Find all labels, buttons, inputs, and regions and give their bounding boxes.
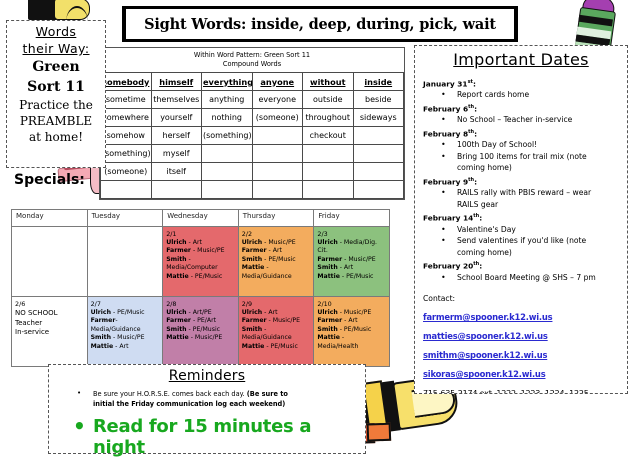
- word-sort-cell: (someone): [252, 109, 303, 127]
- schedule-teacher-subject: - PE/Music: [340, 273, 374, 280]
- schedule-teacher-line: Farmer - Art: [242, 247, 311, 255]
- schedule-teacher-name: Mattie: [242, 343, 265, 350]
- word-sort-row: (someone)itself: [101, 163, 404, 181]
- schedule-teacher-name: Farmer: [166, 317, 191, 324]
- word-sort-cell: yourself: [151, 109, 202, 127]
- schedule-cell: 2/1Ulrich - ArtFarmer - Music/PESmith - …: [163, 227, 239, 297]
- date-bullet-item: Send valentines if you'd like (note: [423, 235, 619, 247]
- schedule-teacher-name: Farmer: [317, 256, 342, 263]
- schedule-cell-date: 2/2: [242, 230, 311, 239]
- schedule-teacher-line: Mattie - PE/Music: [317, 273, 386, 281]
- word-sort-table-container: Within Word Pattern: Green Sort 11 Compo…: [99, 47, 405, 200]
- reminders-title: Reminders: [55, 368, 359, 384]
- schedule-teacher-subject: - PE/Music: [189, 273, 223, 280]
- schedule-cell: 2/3Ulrich - Media/Dig. Cit.Farmer - Musi…: [314, 227, 390, 297]
- schedule-no-school-line: Teacher: [15, 319, 84, 329]
- schedule-teacher-line: Mattie - PE/Music: [166, 273, 235, 281]
- word-sort-row: (something)myself: [101, 145, 404, 163]
- word-sort-caption: Within Word Pattern: Green Sort 11 Compo…: [100, 48, 404, 72]
- date-bullet-item: Bring 100 items for trail mix (note: [423, 151, 619, 163]
- word-sort-cell: [303, 163, 354, 181]
- schedule-teacher-name: Smith: [317, 264, 337, 271]
- schedule-teacher-name: Smith: [242, 256, 262, 263]
- schedule-cell: [87, 227, 163, 297]
- word-sort-cell: somehow: [101, 127, 152, 145]
- schedule-cell: 2/6NO SCHOOLTeacherIn-service: [12, 297, 88, 367]
- wtw-line-6: PREAMBLE: [10, 113, 102, 129]
- schedule-teacher-line: Smith - PE/Music: [242, 256, 311, 264]
- schedule-cell: 2/7Ulrich - PE/MusicFarmer- Media/Guidan…: [87, 297, 163, 367]
- word-sort-table: somebodyhimselfeverythinganyonewithoutin…: [100, 72, 404, 199]
- date-heading: February 9th:: [423, 175, 619, 187]
- schedule-cell-date: 2/3: [317, 230, 386, 239]
- date-bullet-item: RAILS rally with PBIS reward – wear: [423, 187, 619, 199]
- word-sort-header-cell: somebody: [101, 73, 152, 91]
- schedule-teacher-subject: - Art: [342, 317, 357, 324]
- schedule-teacher-subject: - Music/PE: [338, 309, 372, 316]
- word-sort-cell: checkout: [303, 127, 354, 145]
- word-sort-cell: anything: [202, 91, 253, 109]
- schedule-teacher-line: Smith - Media/Computer: [166, 256, 235, 273]
- email-link[interactable]: matties@spooner.k12.wi.us: [423, 331, 619, 341]
- schedule-teacher-name: Ulrich: [166, 309, 186, 316]
- schedule-teacher-name: Mattie: [317, 334, 340, 341]
- schedule-teacher-name: Farmer: [242, 247, 267, 254]
- schedule-no-school-line: NO SCHOOL: [15, 309, 84, 319]
- important-dates-title: Important Dates: [423, 50, 619, 69]
- schedule-teacher-name: Ulrich: [166, 239, 186, 246]
- schedule-teacher-subject: - Art: [262, 309, 277, 316]
- specials-schedule-container: MondayTuesdayWednesdayThursdayFriday2/1U…: [11, 209, 390, 367]
- reminder-item-read: Read for 15 minutes a night: [55, 416, 359, 458]
- schedule-cell-date: 2/10: [317, 300, 386, 309]
- schedule-teacher-line: Farmer - Music/PE: [317, 256, 386, 264]
- schedule-teacher-subject: - Music/PE: [191, 247, 225, 254]
- word-sort-row: somehowherself(something)checkout: [101, 127, 404, 145]
- schedule-teacher-name: Smith: [166, 326, 186, 333]
- word-sort-cell: [353, 145, 404, 163]
- schedule-teacher-name: Mattie: [317, 273, 340, 280]
- word-sort-cell: [202, 145, 253, 163]
- date-heading: February 14th:: [423, 211, 619, 223]
- schedule-teacher-subject: - Music/PE: [267, 317, 301, 324]
- specials-schedule-table: MondayTuesdayWednesdayThursdayFriday2/1U…: [11, 209, 390, 367]
- schedule-teacher-subject: - Art: [113, 343, 128, 350]
- word-sort-cell: [303, 181, 354, 199]
- word-sort-cell: itself: [151, 163, 202, 181]
- schedule-cell: [12, 227, 88, 297]
- wtw-line-1: Words: [10, 23, 102, 40]
- schedule-teacher-subject: - Music/PE: [111, 334, 145, 341]
- schedule-day-header: Wednesday: [163, 210, 239, 227]
- schedule-header-row: MondayTuesdayWednesdayThursdayFriday: [12, 210, 390, 227]
- word-sort-cell: sometime: [101, 91, 152, 109]
- word-sort-row: sometimethemselvesanythingeveryoneoutsid…: [101, 91, 404, 109]
- wtw-line-3: Green: [10, 57, 102, 77]
- schedule-teacher-line: Smith - Media/Guidance: [242, 326, 311, 343]
- schedule-teacher-subject: - PE/Music: [111, 309, 145, 316]
- reminder-item-horse-line2: initial the Friday communication log eac…: [55, 399, 359, 409]
- word-sort-cell: nothing: [202, 109, 253, 127]
- email-link[interactable]: smithm@spooner.k12.wi.us: [423, 350, 619, 360]
- schedule-week-2-row: 2/6NO SCHOOLTeacherIn-service2/7Ulrich -…: [12, 297, 390, 367]
- word-sort-cell: [202, 181, 253, 199]
- word-sort-cell: [252, 145, 303, 163]
- word-sort-cell: sideways: [353, 109, 404, 127]
- schedule-teacher-subject: - PE/Music: [338, 326, 372, 333]
- word-sort-cell: [252, 181, 303, 199]
- word-sort-header-cell: everything: [202, 73, 253, 91]
- reminder-horse-plain: Be sure your H.O.R.S.E. comes back each …: [93, 390, 247, 398]
- schedule-teacher-subject: - Art/PE: [187, 309, 212, 316]
- word-sort-cell: outside: [303, 91, 354, 109]
- schedule-teacher-name: Smith: [242, 326, 262, 333]
- schedule-teacher-name: Farmer: [242, 317, 267, 324]
- schedule-cell-date: 2/7: [91, 300, 160, 309]
- schedule-teacher-line: Mattie - Art: [91, 343, 160, 351]
- schedule-teacher-line: Ulrich - Art/PE: [166, 309, 235, 317]
- schedule-teacher-line: Mattie - Media/Health: [317, 334, 386, 351]
- schedule-teacher-name: Ulrich: [317, 239, 337, 246]
- word-sort-cell: (something): [101, 145, 152, 163]
- schedule-day-header: Friday: [314, 210, 390, 227]
- schedule-cell-date: 2/8: [166, 300, 235, 309]
- word-sort-cell: themselves: [151, 91, 202, 109]
- date-bullet-item: School Board Meeting @ SHS – 7 pm: [423, 272, 619, 284]
- schedule-teacher-line: Ulrich - Media/Dig. Cit.: [317, 239, 386, 256]
- schedule-teacher-line: Mattie - Media/Guidance: [242, 264, 311, 281]
- schedule-teacher-line: Smith - Art: [317, 264, 386, 272]
- schedule-teacher-subject: - PE/Art: [191, 317, 216, 324]
- schedule-teacher-subject: - PE/Music: [187, 326, 221, 333]
- phone-number: 715-635-2174 ext. 1222, 1223, 1224, 1225: [423, 389, 619, 394]
- date-heading: February 6th:: [423, 102, 619, 114]
- date-heading: January 31st:: [423, 77, 619, 89]
- schedule-teacher-subject: - Music/PE: [342, 256, 376, 263]
- schedule-teacher-name: Smith: [91, 334, 111, 341]
- schedule-teacher-line: Smith - PE/Music: [317, 326, 386, 334]
- date-heading: February 20th:: [423, 259, 619, 271]
- word-sort-cell: (something): [202, 127, 253, 145]
- schedule-cell: 2/2Ulrich - Music/PEFarmer - ArtSmith - …: [238, 227, 314, 297]
- schedule-no-school-line: In-service: [15, 328, 84, 338]
- word-sort-cell: [353, 163, 404, 181]
- date-bullet-item: coming home): [423, 162, 619, 174]
- schedule-teacher-subject: - PE/Music: [262, 256, 296, 263]
- word-sort-header-cell: inside: [353, 73, 404, 91]
- word-sort-cell: [202, 163, 253, 181]
- email-link[interactable]: farmerm@spooner.k12.wi.us: [423, 312, 619, 322]
- word-sort-header-cell: without: [303, 73, 354, 91]
- schedule-week-1-row: 2/1Ulrich - ArtFarmer - Music/PESmith - …: [12, 227, 390, 297]
- date-bullet-item: coming home): [423, 247, 619, 259]
- word-sort-cell: [252, 127, 303, 145]
- schedule-teacher-subject: - PE/Music: [264, 343, 298, 350]
- email-list: farmerm@spooner.k12.wi.usmatties@spooner…: [423, 312, 619, 379]
- wtw-line-5: Practice the: [10, 97, 102, 113]
- word-sort-cell: myself: [151, 145, 202, 163]
- word-sort-cell: everyone: [252, 91, 303, 109]
- schedule-teacher-name: Ulrich: [317, 309, 337, 316]
- schedule-day-header: Tuesday: [87, 210, 163, 227]
- words-their-way-box: Words their Way: Green Sort 11 Practice …: [6, 20, 106, 168]
- word-sort-header-cell: anyone: [252, 73, 303, 91]
- schedule-teacher-subject: - Art: [338, 264, 353, 271]
- schedule-day-header: Monday: [12, 210, 88, 227]
- schedule-teacher-name: Smith: [317, 326, 337, 333]
- word-sort-cell: [252, 163, 303, 181]
- wtw-line-7: at home!: [10, 129, 102, 145]
- schedule-teacher-name: Farmer: [91, 317, 116, 324]
- schedule-cell-date: 2/9: [242, 300, 311, 309]
- schedule-teacher-subject: - Music/PE: [189, 334, 223, 341]
- word-sort-cell: (someone): [101, 163, 152, 181]
- schedule-teacher-name: Smith: [166, 256, 186, 263]
- schedule-teacher-name: Farmer: [317, 317, 342, 324]
- word-sort-header-row: somebodyhimselfeverythinganyonewithoutin…: [101, 73, 404, 91]
- date-bullet-item: No School – Teacher in-service: [423, 114, 619, 126]
- schedule-teacher-line: Farmer- Media/Guidance: [91, 317, 160, 334]
- schedule-teacher-line: Smith - PE/Music: [166, 326, 235, 334]
- word-sort-cell: throughout: [303, 109, 354, 127]
- date-bullet-item: Report cards home: [423, 89, 619, 101]
- reminders-box: Reminders Be sure your H.O.R.S.E. comes …: [48, 364, 366, 454]
- reminder-horse-bold-line2: initial the Friday communication log eac…: [93, 400, 285, 408]
- word-sort-cell: beside: [353, 91, 404, 109]
- contact-label: Contact:: [423, 294, 619, 303]
- schedule-teacher-name: Mattie: [242, 264, 265, 271]
- schedule-teacher-line: Farmer - Music/PE: [166, 247, 235, 255]
- schedule-teacher-line: Ulrich - Music/PE: [317, 309, 386, 317]
- schedule-cell: 2/10Ulrich - Music/PEFarmer - ArtSmith -…: [314, 297, 390, 367]
- schedule-teacher-line: Mattie - Music/PE: [166, 334, 235, 342]
- schedule-teacher-line: Farmer - Music/PE: [242, 317, 311, 325]
- word-sort-row: [101, 181, 404, 199]
- word-sort-cell: [353, 181, 404, 199]
- schedule-cell: 2/8Ulrich - Art/PEFarmer - PE/ArtSmith -…: [163, 297, 239, 367]
- schedule-teacher-line: Ulrich - Art: [242, 309, 311, 317]
- schedule-teacher-line: Ulrich - PE/Music: [91, 309, 160, 317]
- word-sort-cell: [303, 145, 354, 163]
- schedule-cell-date: 2/6: [15, 300, 84, 309]
- date-bullet-item: 100th Day of School!: [423, 139, 619, 151]
- word-sort-caption-line2: Compound Words: [100, 60, 404, 69]
- schedule-teacher-name: Mattie: [91, 343, 114, 350]
- schedule-teacher-line: Ulrich - Art: [166, 239, 235, 247]
- word-sort-cell: herself: [151, 127, 202, 145]
- important-dates-box: Important Dates January 31st:Report card…: [414, 45, 628, 394]
- schedule-teacher-line: Farmer - Art: [317, 317, 386, 325]
- schedule-teacher-name: Ulrich: [91, 309, 111, 316]
- date-bullet-item: Valentine's Day: [423, 224, 619, 236]
- schedule-teacher-subject: - Art: [187, 239, 202, 246]
- date-bullet-item: RAILS gear: [423, 199, 619, 211]
- email-link[interactable]: sikoras@spooner.k12.wi.us: [423, 369, 619, 379]
- schedule-teacher-line: Smith - Music/PE: [91, 334, 160, 342]
- reminder-horse-bold: (Be sure to: [247, 390, 288, 398]
- word-sort-header-cell: himself: [151, 73, 202, 91]
- schedule-teacher-line: Farmer - PE/Art: [166, 317, 235, 325]
- word-sort-cell: [353, 127, 404, 145]
- schedule-teacher-name: Farmer: [166, 247, 191, 254]
- word-sort-row: somewhereyourselfnothing(someone)through…: [101, 109, 404, 127]
- wtw-line-2: their Way:: [10, 40, 102, 57]
- schedule-day-header: Thursday: [238, 210, 314, 227]
- word-sort-cell: somewhere: [101, 109, 152, 127]
- reminder-item-horse: Be sure your H.O.R.S.E. comes back each …: [55, 389, 359, 399]
- schedule-cell: 2/9Ulrich - ArtFarmer - Music/PESmith - …: [238, 297, 314, 367]
- schedule-cell-date: 2/1: [166, 230, 235, 239]
- schedule-teacher-line: Ulrich - Music/PE: [242, 239, 311, 247]
- specials-label: Specials:: [14, 172, 85, 188]
- word-sort-caption-line1: Within Word Pattern: Green Sort 11: [100, 51, 404, 60]
- schedule-teacher-subject: - Music/PE: [262, 239, 296, 246]
- sight-words-title: Sight Words: inside, deep, during, pick,…: [144, 16, 496, 33]
- schedule-teacher-line: Mattie - PE/Music: [242, 343, 311, 351]
- schedule-teacher-name: Mattie: [166, 334, 189, 341]
- wtw-line-4: Sort 11: [10, 77, 102, 97]
- schedule-teacher-name: Mattie: [166, 273, 189, 280]
- schedule-teacher-name: Ulrich: [242, 239, 262, 246]
- word-sort-cell: [151, 181, 202, 199]
- word-sort-cell: [101, 181, 152, 199]
- important-dates-list: January 31st:Report cards homeFebruary 6…: [423, 77, 619, 283]
- schedule-teacher-name: Ulrich: [242, 309, 262, 316]
- sight-words-banner: Sight Words: inside, deep, during, pick,…: [122, 6, 518, 42]
- date-heading: February 8th:: [423, 127, 619, 139]
- schedule-teacher-subject: - Art: [267, 247, 282, 254]
